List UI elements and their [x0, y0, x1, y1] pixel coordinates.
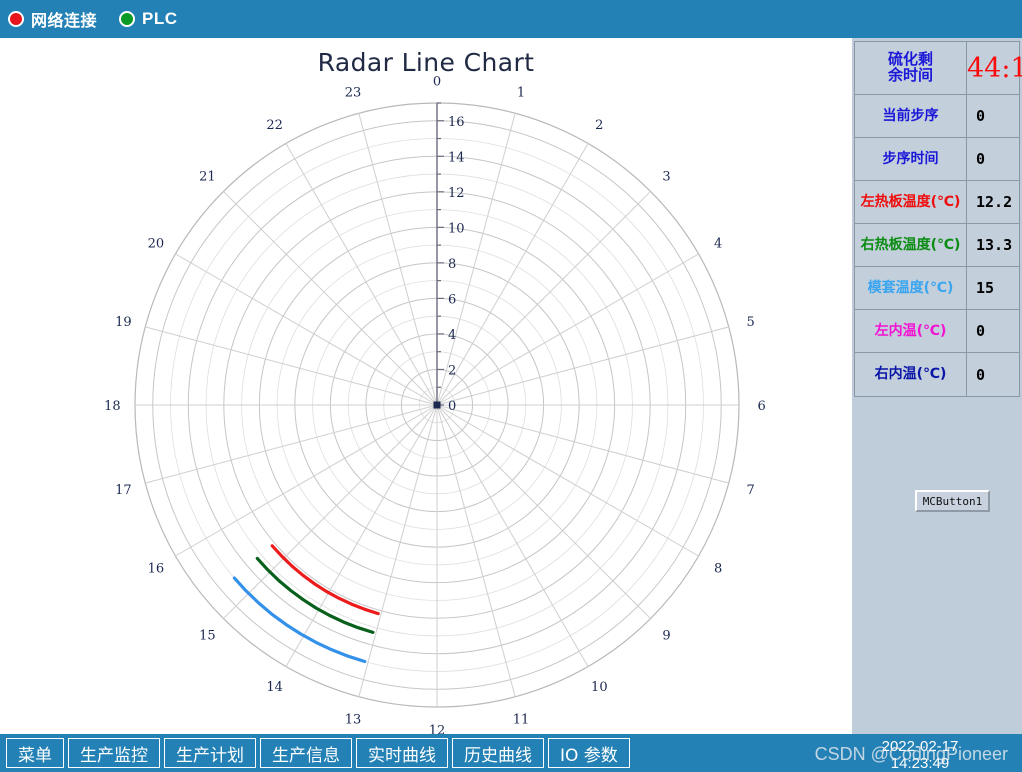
- angular-tick-label: 13: [345, 713, 362, 728]
- angular-tick-label: 18: [104, 399, 121, 414]
- angular-tick-label: 1: [517, 85, 525, 100]
- angular-tick-label: 0: [433, 74, 441, 89]
- remaining-time-value: 44:10: [967, 42, 1022, 94]
- red-led-icon: [8, 11, 24, 27]
- date-text: 2022-02-17: [830, 738, 1010, 755]
- right-plate-temp-value: 13.3: [967, 224, 1019, 266]
- angular-tick-label: 9: [662, 629, 670, 644]
- angular-tick-label: 20: [148, 237, 165, 252]
- nav-button-production-info[interactable]: 生产信息: [260, 738, 352, 768]
- nav-button-history-curve[interactable]: 历史曲线: [452, 738, 544, 768]
- mc-button[interactable]: MCButton1: [915, 490, 990, 512]
- angular-tick-label: 6: [758, 399, 766, 414]
- angular-tick-label: 2: [595, 118, 603, 133]
- table-row: 左热板温度(℃) 12.2: [855, 181, 1019, 224]
- radial-tick-label: 6: [448, 292, 456, 307]
- angular-tick-label: 14: [266, 680, 283, 695]
- angular-tick-label: 22: [266, 118, 283, 133]
- datetime-display: 2022-02-17 14:23:49: [830, 738, 1010, 772]
- top-status-bar: 网络连接 PLC: [0, 0, 1022, 38]
- angular-tick-label: 12: [429, 724, 446, 734]
- table-row: 右热板温度(℃) 13.3: [855, 224, 1019, 267]
- current-step-label: 当前步序: [855, 95, 967, 137]
- left-inner-temp-value: 0: [967, 310, 1019, 352]
- nav-button-production-monitor[interactable]: 生产监控: [68, 738, 160, 768]
- polar-chart-svg: 0123456789101112131415161718192021222302…: [0, 38, 852, 734]
- radial-tick-label: 0: [448, 399, 456, 414]
- radial-tick-label: 16: [448, 115, 465, 130]
- angular-tick-label: 10: [591, 680, 608, 695]
- step-time-value: 0: [967, 138, 1019, 180]
- nav-button-io-params[interactable]: IO 参数: [548, 738, 630, 768]
- table-row: 模套温度(℃) 15: [855, 267, 1019, 310]
- current-step-value: 0: [967, 95, 1019, 137]
- radar-chart-area: Radar Line Chart 01234567891011121314151…: [0, 38, 852, 734]
- origin-marker: [434, 402, 441, 409]
- plc-status-indicator: PLC: [119, 9, 178, 29]
- angular-tick-label: 3: [662, 169, 670, 184]
- angular-tick-label: 23: [345, 85, 362, 100]
- angular-tick-label: 19: [115, 315, 132, 330]
- radial-tick-label: 2: [448, 363, 456, 378]
- angular-tick-label: 8: [714, 561, 722, 576]
- status-side-panel: 硫化剩余时间 44:10 当前步序 0 步序时间 0 左热板温度(℃) 12.2…: [852, 38, 1022, 734]
- table-row: 右内温(℃) 0: [855, 353, 1019, 396]
- table-row: 步序时间 0: [855, 138, 1019, 181]
- radial-tick-label: 10: [448, 221, 465, 236]
- angular-tick-label: 16: [148, 561, 165, 576]
- time-text: 14:23:49: [830, 755, 1010, 772]
- angular-tick-label: 11: [513, 713, 530, 728]
- nav-button-production-plan[interactable]: 生产计划: [164, 738, 256, 768]
- green-led-icon: [119, 11, 135, 27]
- table-row: 硫化剩余时间 44:10: [855, 42, 1019, 95]
- network-status-label: 网络连接: [31, 7, 97, 31]
- left-plate-temp-value: 12.2: [967, 181, 1019, 223]
- nav-button-realtime-curve[interactable]: 实时曲线: [356, 738, 448, 768]
- angular-tick-label: 15: [199, 629, 216, 644]
- angular-tick-label: 7: [746, 483, 754, 498]
- radial-tick-label: 14: [448, 150, 465, 165]
- step-time-label: 步序时间: [855, 138, 967, 180]
- left-inner-temp-label: 左内温(℃): [855, 310, 967, 352]
- angular-tick-label: 17: [115, 483, 132, 498]
- right-inner-temp-label: 右内温(℃): [855, 353, 967, 396]
- remaining-time-label: 硫化剩余时间: [855, 42, 967, 94]
- table-row: 左内温(℃) 0: [855, 310, 1019, 353]
- right-inner-temp-value: 0: [967, 353, 1019, 396]
- right-plate-temp-label: 右热板温度(℃): [855, 224, 967, 266]
- nav-button-menu[interactable]: 菜单: [6, 738, 64, 768]
- angular-tick-label: 5: [746, 315, 754, 330]
- radial-tick-label: 8: [448, 257, 456, 272]
- series-line-0: [272, 546, 378, 614]
- process-values-table: 硫化剩余时间 44:10 当前步序 0 步序时间 0 左热板温度(℃) 12.2…: [854, 41, 1020, 397]
- mold-sleeve-temp-label: 模套温度(℃): [855, 267, 967, 309]
- mold-sleeve-temp-value: 15: [967, 267, 1019, 309]
- plc-status-label: PLC: [142, 9, 178, 29]
- radial-tick-label: 4: [448, 328, 456, 343]
- network-status-indicator: 网络连接: [8, 7, 97, 31]
- table-row: 当前步序 0: [855, 95, 1019, 138]
- radial-tick-label: 12: [448, 186, 465, 201]
- angular-tick-label: 21: [199, 169, 216, 184]
- remaining-time-label-text: 硫化剩余时间: [888, 52, 933, 84]
- left-plate-temp-label: 左热板温度(℃): [855, 181, 967, 223]
- angular-tick-label: 4: [714, 237, 722, 252]
